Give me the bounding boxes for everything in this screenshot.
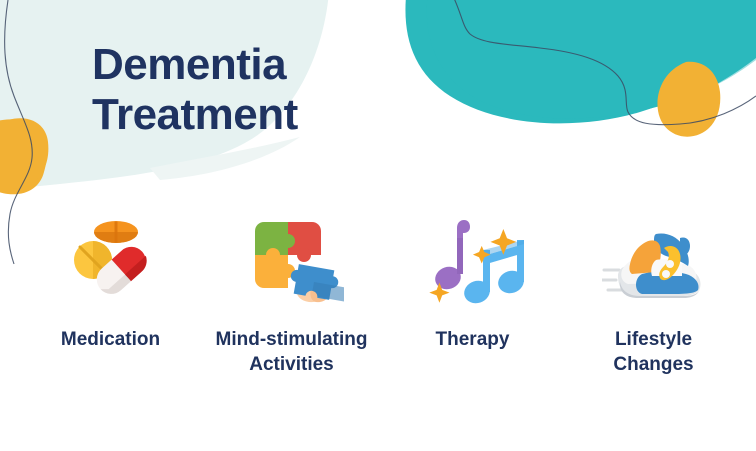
teal-blob-top-right-shape <box>405 0 756 123</box>
infographic-canvas: Dementia Treatment <box>0 0 756 451</box>
treatment-items-row: Medication <box>0 208 756 377</box>
mint-blob-tail-shape <box>150 137 300 180</box>
purple-note <box>432 220 470 292</box>
squiggle-line-right-shape <box>452 0 756 125</box>
orange-blob-left-shape <box>0 119 48 194</box>
treatment-item-medication[interactable]: Medication <box>20 208 201 353</box>
music-notes-icon <box>421 208 525 312</box>
treatment-item-label: Medication <box>61 328 160 353</box>
orange-blob-top-right-shape <box>657 62 720 137</box>
treatment-item-label: Lifestyle Changes <box>613 328 693 377</box>
puzzle-hand-icon <box>240 208 344 312</box>
running-shoe-icon <box>602 208 706 312</box>
treatment-item-label: Mind-stimulating Activities <box>216 328 368 377</box>
shoe-heel-tab <box>680 237 690 256</box>
pills-icon <box>59 208 163 312</box>
treatment-item-lifestyle-changes[interactable]: Lifestyle Changes <box>563 208 744 377</box>
treatment-item-mind-stimulating-activities[interactable]: Mind-stimulating Activities <box>201 208 382 377</box>
orange-blob-left-shape-2 <box>0 118 48 188</box>
blue-notes <box>461 240 525 306</box>
treatment-item-label: Therapy <box>436 328 510 353</box>
treatment-item-therapy[interactable]: Therapy <box>382 208 563 353</box>
page-title: Dementia Treatment <box>92 40 422 139</box>
teal-blob-top-right-shape-2 <box>427 0 756 119</box>
teal-blob-edge-highlight <box>448 58 756 133</box>
